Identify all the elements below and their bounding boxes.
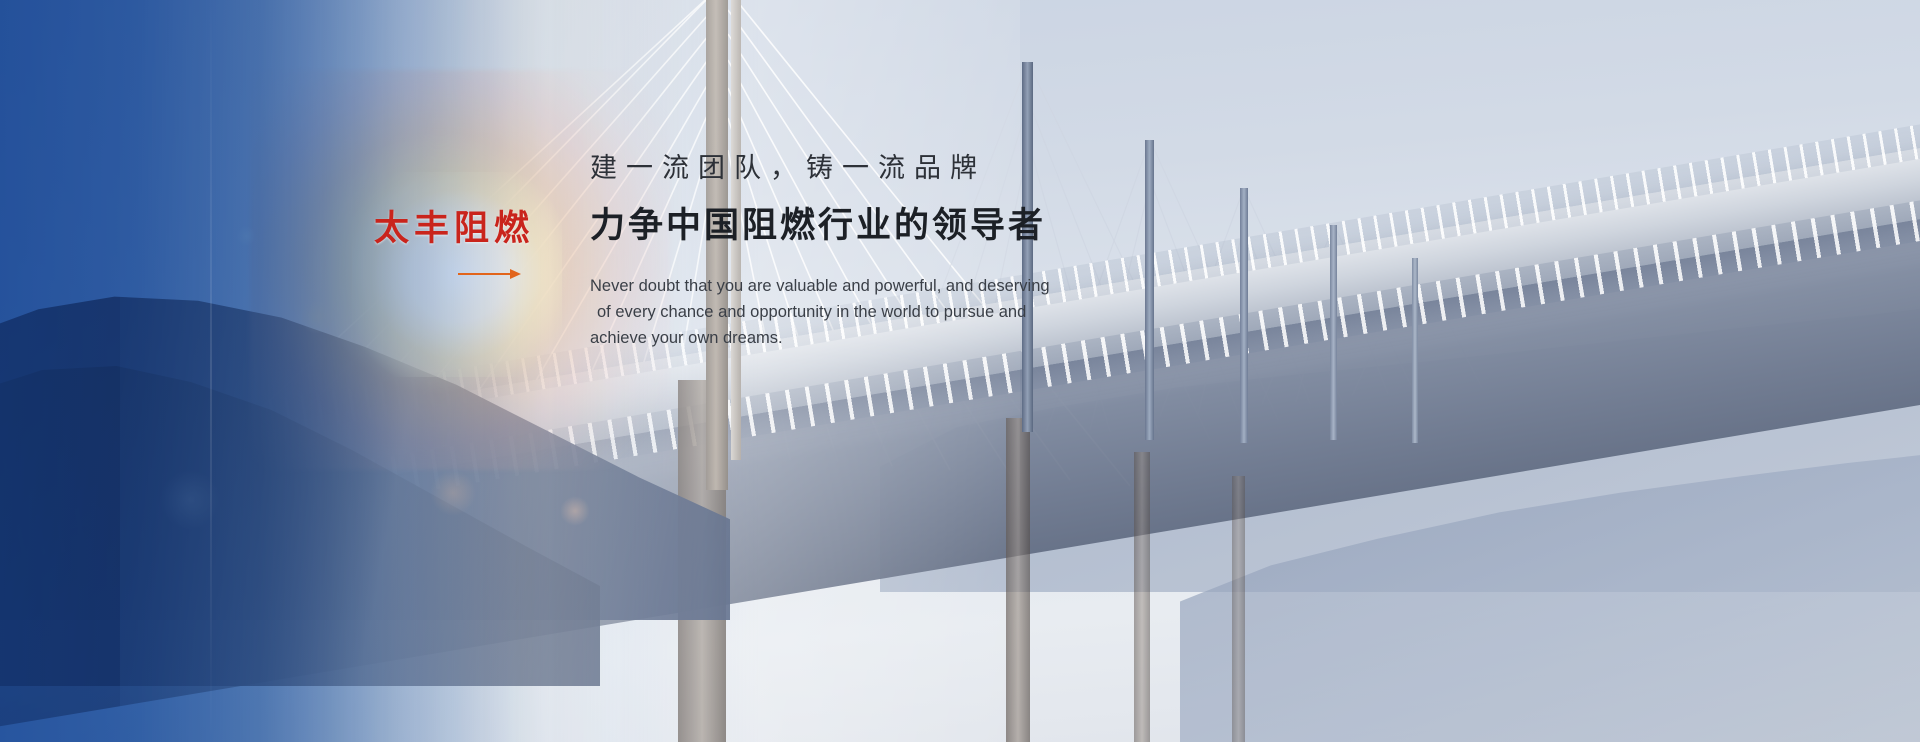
arrow-head [510, 269, 521, 279]
right-arrow-icon [458, 268, 524, 280]
headline-subtitle: 建一流团队，铸一流品牌 [590, 152, 1150, 186]
description-line-1: Never doubt that you are valuable and po… [590, 273, 1060, 299]
headline-block: 建一流团队，铸一流品牌 力争中国阻燃行业的领导者 Never doubt tha… [590, 152, 1150, 351]
hero-banner: 太丰阻燃 建一流团队，铸一流品牌 力争中国阻燃行业的领导者 Never doub… [0, 0, 1920, 742]
description-line-2: of every chance and opportunity in the w… [590, 299, 1060, 325]
description-line-3: achieve your own dreams. [590, 325, 1060, 351]
description-paragraph: Never doubt that you are valuable and po… [590, 273, 1060, 351]
brand-logo-text: 太丰阻燃 [374, 212, 564, 247]
arrow-shaft [458, 273, 518, 275]
brand-logo[interactable]: 太丰阻燃 [374, 212, 564, 280]
banner-content: 太丰阻燃 建一流团队，铸一流品牌 力争中国阻燃行业的领导者 Never doub… [0, 0, 1920, 742]
headline-title: 力争中国阻燃行业的领导者 [590, 204, 1150, 250]
